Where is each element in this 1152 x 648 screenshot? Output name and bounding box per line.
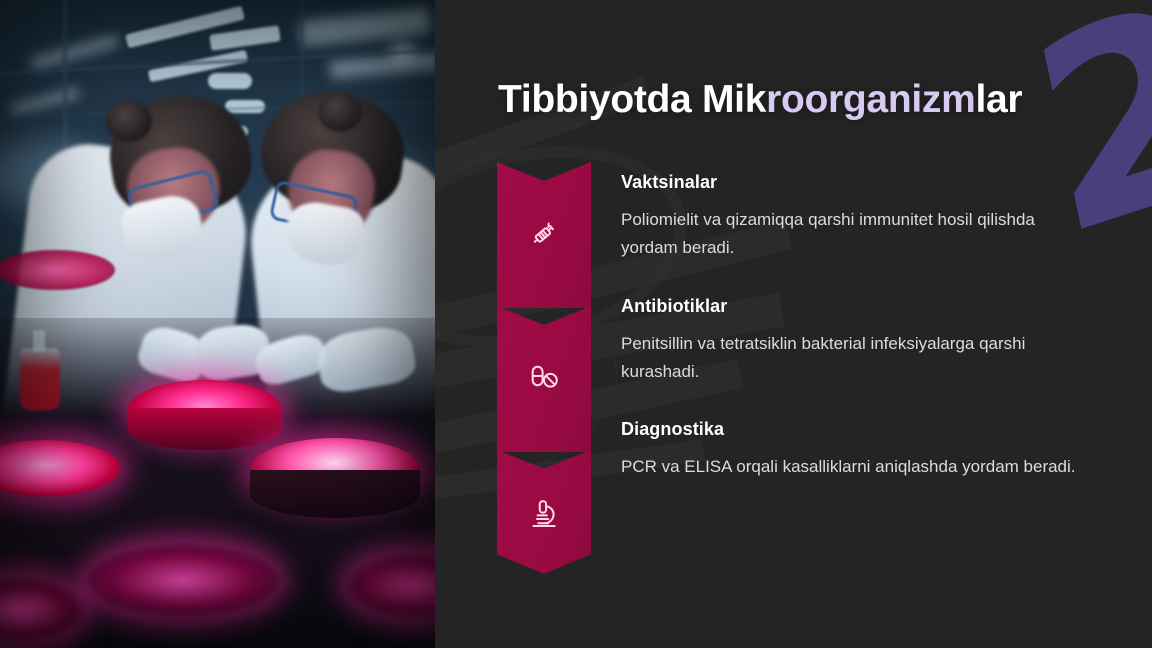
item-heading: Diagnostika	[621, 419, 1091, 440]
presentation-slide: 24 Tibbiyotda Mikroorganizmlar	[0, 0, 1152, 648]
title-part-blend: roorganizm	[766, 78, 975, 121]
list-item: Antibiotiklar Penitsillin va tetratsikli…	[621, 296, 1091, 386]
page-title: Tibbiyotda Mikroorganizmlar	[498, 78, 1138, 122]
syringe-icon	[497, 210, 591, 258]
title-part-tail: lar	[975, 78, 1022, 121]
pills-icon	[497, 352, 591, 400]
content-panel: 24 Tibbiyotda Mikroorganizmlar	[435, 0, 1152, 648]
ribbon-column	[497, 162, 591, 574]
lab-photo	[0, 0, 435, 648]
list-item: Vaktsinalar Poliomielit va qizamiqqa qar…	[621, 172, 1091, 262]
feature-list: Vaktsinalar Poliomielit va qizamiqqa qar…	[621, 172, 1091, 509]
item-heading: Vaktsinalar	[621, 172, 1091, 193]
list-item: Diagnostika PCR va ELISA orqali kasallik…	[621, 419, 1091, 481]
title-part-1: Tibbiyotda Mik	[498, 78, 766, 121]
item-body: Poliomielit va qizamiqqa qarshi immunite…	[621, 206, 1091, 262]
microscope-icon	[497, 490, 591, 538]
item-heading: Antibiotiklar	[621, 296, 1091, 317]
item-body: Penitsillin va tetratsiklin bakterial in…	[621, 330, 1091, 386]
item-body: PCR va ELISA orqali kasalliklarni aniqla…	[621, 453, 1091, 481]
photo-vignette	[0, 0, 435, 648]
